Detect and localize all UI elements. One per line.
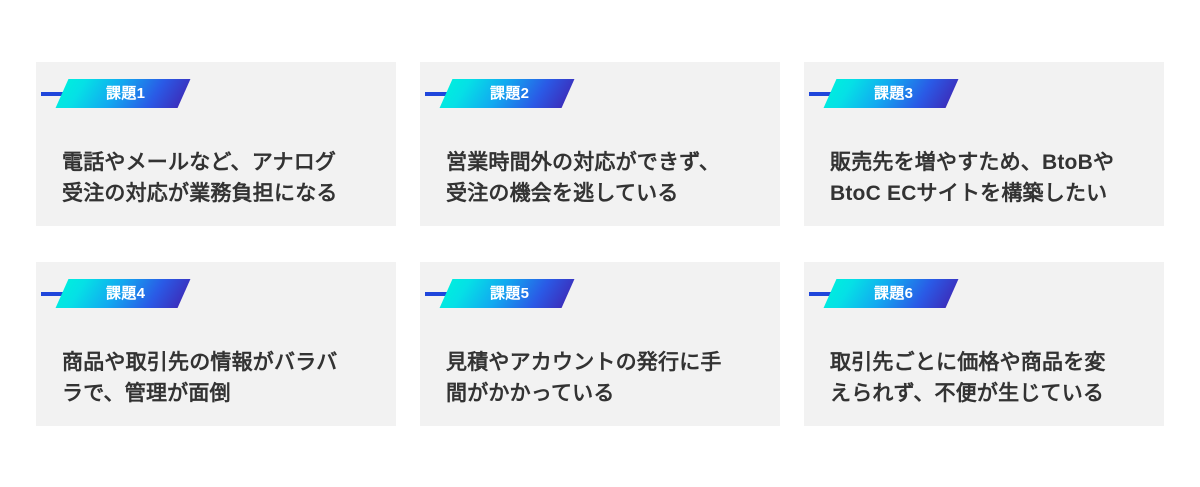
badge-row: 課題1: [36, 79, 396, 125]
card-title: 商品や取引先の情報がバラバ ラで、管理が面倒: [36, 347, 396, 409]
badge-row: 課題5: [420, 279, 780, 325]
badge-label: 課題4: [106, 286, 145, 301]
badge-label: 課題1: [106, 86, 145, 101]
challenge-card-5: 課題5 見積やアカウントの発行に手 間がかかっている: [420, 262, 780, 426]
challenge-number-badge: 課題5: [440, 279, 575, 308]
challenge-card-board: 課題1 電話やメールなど、アナログ 受注の対応が業務負担になる 課題2 営業時間…: [0, 0, 1200, 487]
challenge-card-6: 課題6 取引先ごとに価格や商品を変 えられず、不便が生じている: [804, 262, 1164, 426]
challenge-number-badge: 課題2: [440, 79, 575, 108]
challenge-card-3: 課題3 販売先を増やすため、BtoBや BtoC ECサイトを構築したい: [804, 62, 1164, 226]
badge-label: 課題2: [490, 86, 529, 101]
badge-row: 課題2: [420, 79, 780, 125]
card-title: 電話やメールなど、アナログ 受注の対応が業務負担になる: [36, 147, 396, 209]
card-title: 見積やアカウントの発行に手 間がかかっている: [420, 347, 780, 409]
card-title: 販売先を増やすため、BtoBや BtoC ECサイトを構築したい: [804, 147, 1164, 209]
badge-label: 課題5: [490, 286, 529, 301]
badge-row: 課題3: [804, 79, 1164, 125]
challenge-number-badge: 課題3: [824, 79, 959, 108]
challenge-card-2: 課題2 営業時間外の対応ができず、 受注の機会を逃している: [420, 62, 780, 226]
challenge-number-badge: 課題4: [56, 279, 191, 308]
badge-label: 課題3: [874, 86, 913, 101]
badge-row: 課題4: [36, 279, 396, 325]
challenge-card-4: 課題4 商品や取引先の情報がバラバ ラで、管理が面倒: [36, 262, 396, 426]
challenge-card-grid: 課題1 電話やメールなど、アナログ 受注の対応が業務負担になる 課題2 営業時間…: [36, 62, 1164, 426]
challenge-number-badge: 課題1: [56, 79, 191, 108]
challenge-number-badge: 課題6: [824, 279, 959, 308]
badge-label: 課題6: [874, 286, 913, 301]
card-title: 取引先ごとに価格や商品を変 えられず、不便が生じている: [804, 347, 1164, 409]
badge-row: 課題6: [804, 279, 1164, 325]
challenge-card-1: 課題1 電話やメールなど、アナログ 受注の対応が業務負担になる: [36, 62, 396, 226]
card-title: 営業時間外の対応ができず、 受注の機会を逃している: [420, 147, 780, 209]
